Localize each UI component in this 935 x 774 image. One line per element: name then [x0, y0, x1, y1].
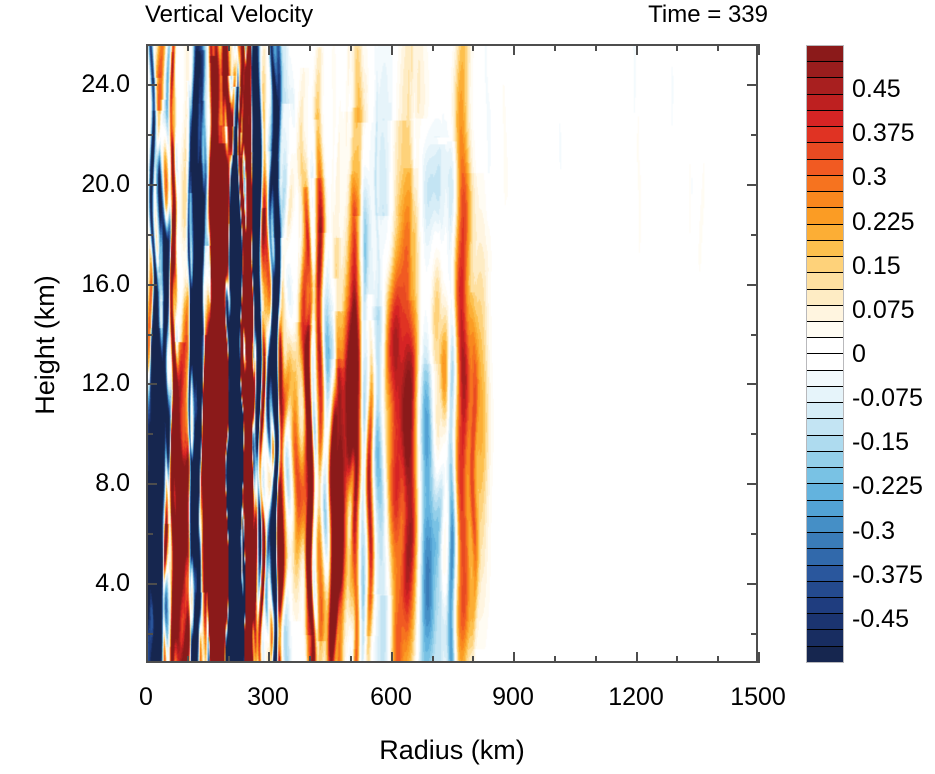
colorbar-tick-label: -0.45	[852, 607, 935, 632]
colorbar-cell	[807, 387, 843, 403]
colorbar-cell	[807, 95, 843, 111]
y-tick-major-right	[747, 284, 758, 286]
x-tick-minor-top	[187, 44, 189, 51]
x-tick-minor-top	[472, 44, 474, 51]
y-tick-major-right	[747, 583, 758, 585]
x-tick-minor	[676, 656, 678, 663]
colorbar-tick-label: 0	[852, 342, 935, 367]
x-tick-minor	[717, 656, 719, 663]
colorbar-cell	[807, 306, 843, 322]
x-tick-minor-top	[228, 44, 230, 51]
y-tick-major	[146, 184, 157, 186]
colorbar-cell	[807, 62, 843, 78]
colorbar-tick-label: -0.375	[852, 563, 935, 588]
time-annotation: Time = 339	[458, 0, 768, 30]
colorbar-cell	[807, 549, 843, 565]
colorbar-cell	[807, 46, 843, 62]
colorbar-cell	[807, 290, 843, 306]
y-tick-minor	[146, 234, 153, 236]
x-tick-minor-top	[717, 44, 719, 51]
colorbar-tick-label: 0.45	[852, 77, 935, 102]
x-tick-label: 1200	[566, 685, 706, 710]
x-tick-minor	[472, 656, 474, 663]
colorbar-cell	[807, 403, 843, 419]
colorbar-cell	[807, 160, 843, 176]
x-tick-major-top	[391, 44, 393, 55]
colorbar-cell	[807, 647, 843, 662]
colorbar-cell	[807, 143, 843, 159]
x-tick-minor	[187, 656, 189, 663]
x-tick-minor	[595, 656, 597, 663]
colorbar-tick-label: -0.15	[852, 430, 935, 455]
colorbar-cell	[807, 614, 843, 630]
y-tick-major	[146, 383, 157, 385]
colorbar-cell	[807, 241, 843, 257]
colorbar-cell	[807, 273, 843, 289]
x-tick-major	[758, 652, 760, 663]
y-tick-minor	[146, 433, 153, 435]
x-tick-minor-top	[595, 44, 597, 51]
y-tick-major-right	[747, 84, 758, 86]
y-tick-major	[146, 84, 157, 86]
colorbar-tick-label: 0.225	[852, 210, 935, 235]
plot-area	[146, 44, 758, 663]
x-tick-label: 600	[321, 685, 461, 710]
colorbar-cell	[807, 468, 843, 484]
y-tick-minor-right	[751, 533, 758, 535]
x-tick-major	[513, 652, 515, 663]
x-tick-major	[146, 652, 148, 663]
y-tick-major	[146, 284, 157, 286]
x-tick-major-top	[513, 44, 515, 55]
x-tick-minor	[432, 656, 434, 663]
vertical-velocity-heatmap	[148, 46, 756, 661]
y-tick-minor-right	[751, 134, 758, 136]
y-tick-major-right	[747, 184, 758, 186]
colorbar-cell	[807, 208, 843, 224]
x-tick-minor	[554, 656, 556, 663]
colorbar	[806, 45, 844, 663]
x-tick-major-top	[268, 44, 270, 55]
x-tick-major-top	[758, 44, 760, 55]
y-tick-major-right	[747, 383, 758, 385]
colorbar-cell	[807, 257, 843, 273]
x-tick-major-top	[636, 44, 638, 55]
colorbar-cell	[807, 338, 843, 354]
colorbar-cell	[807, 354, 843, 370]
x-tick-minor-top	[554, 44, 556, 51]
y-tick-major	[146, 483, 157, 485]
x-tick-major	[391, 652, 393, 663]
x-tick-major-top	[146, 44, 148, 55]
x-tick-major	[636, 652, 638, 663]
x-tick-minor	[309, 656, 311, 663]
colorbar-cell	[807, 176, 843, 192]
y-tick-major-right	[747, 483, 758, 485]
x-tick-minor-top	[676, 44, 678, 51]
y-tick-major	[146, 583, 157, 585]
colorbar-cell	[807, 566, 843, 582]
y-tick-minor-right	[751, 633, 758, 635]
colorbar-cell	[807, 501, 843, 517]
colorbar-cell	[807, 419, 843, 435]
x-tick-label: 300	[198, 685, 338, 710]
x-tick-minor-top	[309, 44, 311, 51]
y-tick-minor-right	[751, 433, 758, 435]
y-tick-minor-right	[751, 334, 758, 336]
colorbar-cell	[807, 127, 843, 143]
colorbar-cell	[807, 322, 843, 338]
y-tick-label: 4.0	[22, 571, 130, 596]
y-tick-minor	[146, 334, 153, 336]
colorbar-tick-label: 0.375	[852, 121, 935, 146]
x-tick-label: 900	[443, 685, 583, 710]
y-tick-label: 24.0	[22, 72, 130, 97]
colorbar-cell	[807, 598, 843, 614]
x-tick-minor	[228, 656, 230, 663]
colorbar-cell	[807, 452, 843, 468]
colorbar-cell	[807, 111, 843, 127]
colorbar-cell	[807, 371, 843, 387]
x-tick-minor-top	[432, 44, 434, 51]
y-tick-minor	[146, 533, 153, 535]
colorbar-cell	[807, 533, 843, 549]
y-tick-minor	[146, 134, 153, 136]
colorbar-cell	[807, 78, 843, 94]
y-tick-label: 20.0	[22, 172, 130, 197]
x-tick-major	[268, 652, 270, 663]
colorbar-tick-label: -0.225	[852, 474, 935, 499]
y-tick-minor-right	[751, 234, 758, 236]
x-tick-minor	[350, 656, 352, 663]
x-tick-label: 0	[76, 685, 216, 710]
y-tick-minor	[146, 633, 153, 635]
colorbar-tick-label: 0.15	[852, 254, 935, 279]
y-axis-title: Height (km)	[30, 195, 60, 495]
x-axis-title: Radius (km)	[146, 735, 758, 765]
colorbar-cell	[807, 225, 843, 241]
colorbar-cell	[807, 630, 843, 646]
colorbar-tick-label: -0.3	[852, 519, 935, 544]
colorbar-cell	[807, 517, 843, 533]
colorbar-cell	[807, 192, 843, 208]
colorbar-tick-label: 0.075	[852, 298, 935, 323]
x-tick-minor-top	[350, 44, 352, 51]
colorbar-cell	[807, 484, 843, 500]
x-tick-label: 1500	[688, 685, 828, 710]
colorbar-tick-label: 0.3	[852, 165, 935, 190]
colorbar-cell	[807, 436, 843, 452]
colorbar-tick-label: -0.075	[852, 386, 935, 411]
colorbar-cell	[807, 582, 843, 598]
